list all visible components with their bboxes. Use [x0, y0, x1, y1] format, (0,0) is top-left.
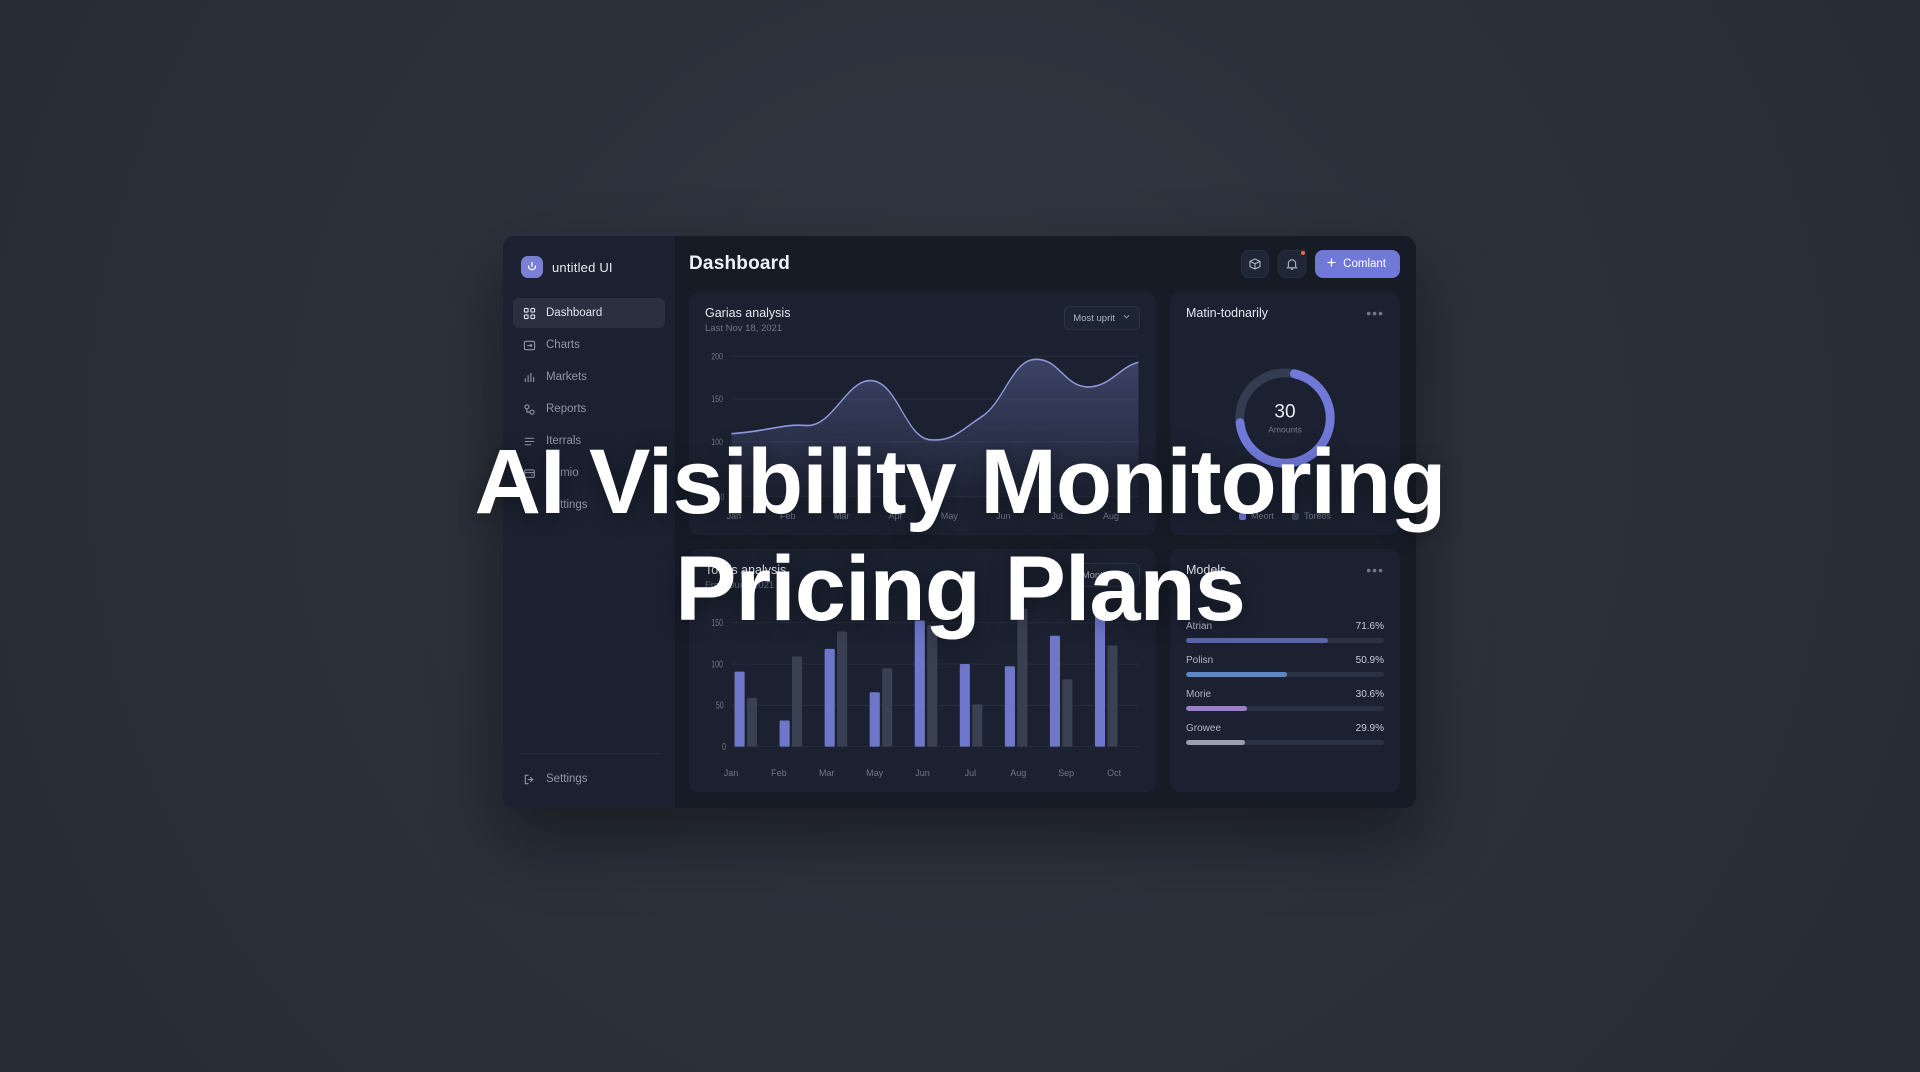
card-subtitle: From June 2021	[705, 580, 786, 591]
more-dots-icon[interactable]: •••	[1366, 563, 1384, 577]
progress-track	[1186, 706, 1384, 711]
sidebar-footer-settings[interactable]: Settings	[513, 764, 665, 794]
svg-text:100: 100	[711, 658, 723, 670]
x-tick: Jul	[1030, 511, 1084, 521]
x-tick: May	[851, 768, 899, 778]
legend-item: Toreos	[1292, 511, 1331, 521]
svg-text:50: 50	[716, 699, 724, 711]
sidebar-item-label: Iterrals	[546, 435, 581, 447]
progress-value: 71.6%	[1356, 621, 1384, 632]
page-title: Dashboard	[689, 253, 790, 275]
progress-track	[1186, 740, 1384, 745]
card-title: Totals analysis	[705, 563, 786, 577]
comlant-button-label: Comlant	[1343, 258, 1386, 270]
x-tick: May	[923, 511, 977, 521]
bar-chart-plot: 150 100 50 0	[705, 601, 1140, 764]
x-tick: Aug	[1084, 511, 1138, 521]
progress-list-card: Models ••• Atrian 71.6%	[1170, 549, 1400, 792]
topbar-actions: Comlant	[1241, 250, 1400, 278]
legend-swatch	[1292, 513, 1299, 520]
sidebar-item-label: Settings	[546, 499, 588, 511]
progress-row-header: Atrian 71.6%	[1186, 621, 1384, 632]
sidebar-item-iterrals[interactable]: Iterrals	[513, 426, 665, 456]
wallet-icon	[522, 466, 536, 480]
sidebar-nav: Dashboard Charts Markets Reports	[513, 298, 665, 520]
legend-swatch	[1239, 513, 1246, 520]
progress-row-header: Polisn 50.9%	[1186, 655, 1384, 666]
line-chart-titles: Garias analysis Last Nov 18, 2021	[705, 306, 790, 334]
app-window: untitled UI Dashboard Charts Markets	[503, 236, 1416, 808]
sidebar-item-charts[interactable]: Charts	[513, 330, 665, 360]
chevron-down-icon	[1122, 312, 1131, 324]
sidebar-item-label: Markets	[546, 371, 587, 383]
list-item: Polisn 50.9%	[1186, 655, 1384, 677]
sidebar-spacer	[513, 520, 665, 753]
smile-logo-icon	[521, 256, 543, 278]
progress-card-header: Models •••	[1186, 563, 1384, 577]
x-tick: Jan	[707, 511, 761, 521]
bars-icon	[522, 370, 536, 384]
area-chart-x-labels: Jan Feb Mar Apr May Jun Jul Aug	[705, 511, 1140, 521]
progress-label: Atrian	[1186, 621, 1212, 632]
progress-row-header: Growee 29.9%	[1186, 723, 1384, 734]
brand-name: untitled UI	[552, 260, 613, 275]
progress-fill	[1186, 740, 1245, 745]
sidebar-item-label: Dashboard	[546, 307, 602, 319]
progress-track	[1186, 672, 1384, 677]
donut-legend: Meort Toreos	[1186, 511, 1384, 521]
card-title: Garias analysis	[705, 306, 790, 320]
legend-item: Meort	[1239, 511, 1274, 521]
x-tick: Aug	[994, 768, 1042, 778]
grid-icon	[522, 306, 536, 320]
bar-chart-x-labels: Jan Feb Mar May Jun Jul Aug Sep Oct	[705, 768, 1140, 778]
bell-icon	[1285, 257, 1299, 271]
donut-card-header: Matin-todnarily •••	[1186, 306, 1384, 320]
sidebar-item-label: Reports	[546, 403, 586, 415]
charts-icon	[522, 338, 536, 352]
list-item: Growee 29.9%	[1186, 723, 1384, 745]
list-icon	[522, 434, 536, 448]
svg-text:100: 100	[711, 437, 723, 447]
progress-value: 50.9%	[1356, 655, 1384, 666]
donut-label: Amounts	[1268, 424, 1302, 434]
sidebar-item-dashboard[interactable]: Dashboard	[513, 298, 665, 328]
box-icon-button[interactable]	[1241, 250, 1269, 278]
logout-icon	[522, 772, 536, 786]
select-value: Most uprit	[1073, 313, 1115, 324]
brand: untitled UI	[513, 248, 665, 278]
progress-value: 29.9%	[1356, 723, 1384, 734]
gear-icon	[522, 498, 536, 512]
svg-text:0: 0	[721, 492, 725, 502]
notification-badge	[1299, 249, 1307, 257]
bar-chart-card: Totals analysis From June 2021 Monthly	[689, 549, 1156, 792]
x-tick: Oct	[1090, 768, 1138, 778]
svg-text:200: 200	[711, 351, 723, 361]
reports-icon	[522, 402, 536, 416]
topbar: Dashboard Comlant	[689, 250, 1400, 278]
more-dots-icon[interactable]: •••	[1366, 306, 1384, 320]
progress-fill	[1186, 672, 1287, 677]
donut-plot: 30 Amounts	[1186, 326, 1384, 509]
comlant-button[interactable]: Comlant	[1315, 250, 1400, 278]
bar-chart-range-select[interactable]: Monthly	[1073, 563, 1140, 587]
x-tick: Sep	[1042, 768, 1090, 778]
main-content: Dashboard Comlant	[675, 236, 1416, 808]
progress-label: Polisn	[1186, 655, 1213, 666]
list-item: Morie 30.6%	[1186, 689, 1384, 711]
progress-row-header: Morie 30.6%	[1186, 689, 1384, 700]
sidebar: untitled UI Dashboard Charts Markets	[503, 236, 675, 808]
plus-icon	[1326, 257, 1337, 271]
legend-label: Meort	[1251, 511, 1274, 521]
svg-text:150: 150	[711, 394, 723, 404]
progress-fill	[1186, 706, 1247, 711]
x-tick: Feb	[755, 768, 803, 778]
progress-list: Atrian 71.6% Polisn 50.9%	[1186, 587, 1384, 778]
sidebar-item-reports[interactable]: Reports	[513, 394, 665, 424]
card-subtitle: Last Nov 18, 2021	[705, 323, 790, 334]
sidebar-divider	[519, 753, 659, 754]
svg-text:150: 150	[711, 617, 723, 629]
x-tick: Jan	[707, 768, 755, 778]
x-tick: Jun	[976, 511, 1030, 521]
select-value: Monthly	[1082, 570, 1115, 581]
progress-track	[1186, 638, 1384, 643]
donut-value: 30	[1268, 401, 1302, 423]
progress-value: 30.6%	[1356, 689, 1384, 700]
area-chart-plot: 200 150 100 0	[705, 344, 1140, 507]
chevron-down-icon	[1122, 569, 1131, 581]
line-chart-range-select[interactable]: Most uprit	[1064, 306, 1140, 330]
bar-chart-card-header: Totals analysis From June 2021 Monthly	[705, 563, 1140, 591]
bar-chart-titles: Totals analysis From June 2021	[705, 563, 786, 591]
box-icon	[1248, 257, 1262, 271]
x-tick: Jul	[946, 768, 994, 778]
donut-center: 30 Amounts	[1268, 401, 1302, 434]
sidebar-item-pemio[interactable]: Pemio	[513, 458, 665, 488]
card-title: Matin-todnarily	[1186, 306, 1268, 320]
sidebar-item-markets[interactable]: Markets	[513, 362, 665, 392]
x-tick: Apr	[869, 511, 923, 521]
progress-label: Morie	[1186, 689, 1211, 700]
progress-fill	[1186, 638, 1328, 643]
line-chart-card: Garias analysis Last Nov 18, 2021 Most u…	[689, 292, 1156, 535]
svg-text:0: 0	[722, 741, 726, 753]
x-tick: Mar	[815, 511, 869, 521]
card-title: Models	[1186, 563, 1226, 577]
sidebar-footer-label: Settings	[546, 773, 588, 785]
x-tick: Mar	[803, 768, 851, 778]
line-chart-card-header: Garias analysis Last Nov 18, 2021 Most u…	[705, 306, 1140, 334]
list-item: Atrian 71.6%	[1186, 621, 1384, 643]
donut-chart-card: Matin-todnarily ••• 30 Amounts	[1170, 292, 1400, 535]
x-tick: Jun	[899, 768, 947, 778]
sidebar-item-label: Charts	[546, 339, 580, 351]
x-tick: Feb	[761, 511, 815, 521]
legend-label: Toreos	[1304, 511, 1331, 521]
sidebar-item-label: Pemio	[546, 467, 579, 479]
sidebar-item-settings[interactable]: Settings	[513, 490, 665, 520]
dashboard-grid: Garias analysis Last Nov 18, 2021 Most u…	[689, 292, 1400, 792]
progress-label: Growee	[1186, 723, 1221, 734]
bell-icon-button[interactable]	[1278, 250, 1306, 278]
